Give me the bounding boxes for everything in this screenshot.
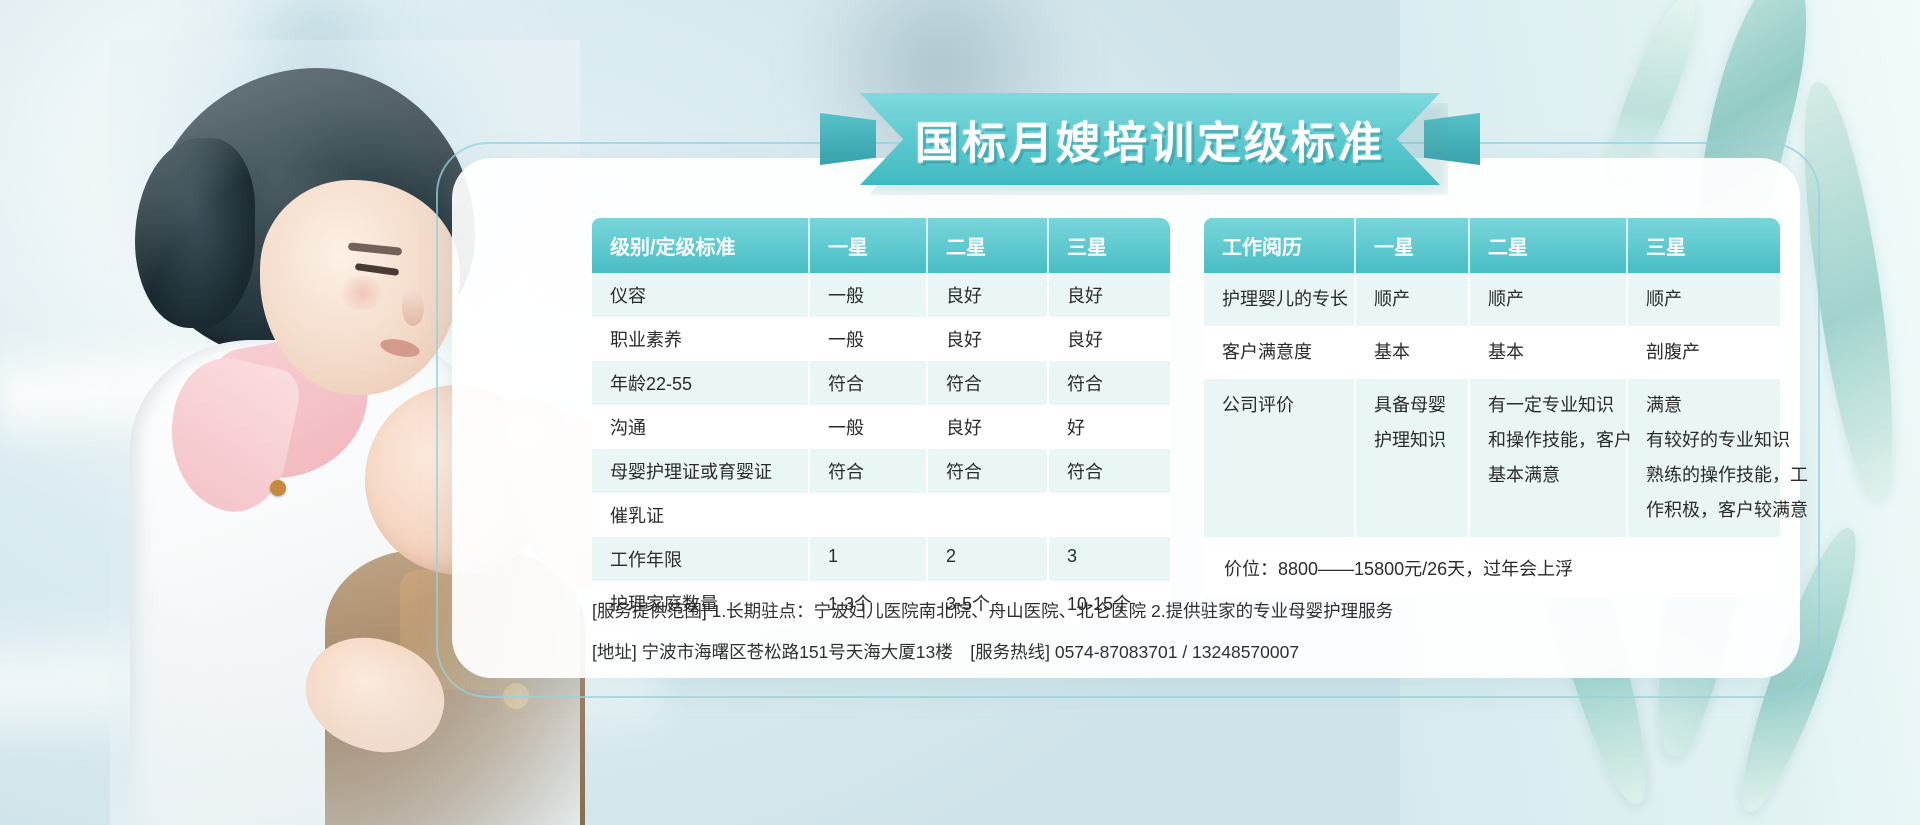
cell-line: 熟练的操作技能，工 bbox=[1646, 458, 1780, 493]
cell-star2: 2 bbox=[928, 537, 1049, 581]
cell-line: 基本 bbox=[1374, 335, 1468, 370]
cell-line: 护理知识 bbox=[1374, 423, 1468, 458]
cell-star3: 剖腹产 bbox=[1628, 326, 1780, 379]
poster-canvas: 国标月嫂培训定级标准 级别/定级标准 一星 二星 三星 仪容 一般 良好 良好 bbox=[0, 0, 1920, 825]
cell-star3: 好 bbox=[1049, 405, 1170, 449]
grading-standard-table: 级别/定级标准 一星 二星 三星 仪容 一般 良好 良好 职业素养 一般 良好 bbox=[592, 218, 1170, 625]
work-experience-table: 工作阅历 一星 二星 三星 护理婴儿的专长 顺产 顺产 bbox=[1204, 218, 1780, 537]
footer-info: [服务提供范围] 1.长期驻点：宁波妇儿医院南北院、舟山医院、北仑医院 2.提供… bbox=[592, 598, 1792, 680]
cell-star2: 良好 bbox=[928, 317, 1049, 361]
cell-criteria: 催乳证 bbox=[592, 493, 810, 537]
cell-line: 基本 bbox=[1488, 335, 1626, 370]
table-row: 职业素养 一般 良好 良好 bbox=[592, 317, 1170, 361]
cell-star1: 具备母婴 护理知识 bbox=[1356, 379, 1470, 537]
price-note: 价位：8800——15800元/26天，过年会上浮 bbox=[1204, 537, 1780, 597]
cell-experience: 公司评价 bbox=[1204, 379, 1356, 537]
header-star-2: 二星 bbox=[1470, 218, 1628, 273]
table-row: 年龄22-55 符合 符合 符合 bbox=[592, 361, 1170, 405]
cell-line: 作积极，客户较满意 bbox=[1646, 493, 1780, 528]
experience-section: 工作阅历 一星 二星 三星 护理婴儿的专长 顺产 顺产 bbox=[1204, 218, 1780, 625]
cell-star1 bbox=[810, 493, 928, 537]
banner-title-text: 国标月嫂培训定级标准 bbox=[915, 107, 1385, 171]
cell-star2: 符合 bbox=[928, 361, 1049, 405]
cell-criteria: 沟通 bbox=[592, 405, 810, 449]
table-header-row: 级别/定级标准 一星 二星 三星 bbox=[592, 218, 1170, 273]
cell-criteria: 年龄22-55 bbox=[592, 361, 810, 405]
cell-star3: 3 bbox=[1049, 537, 1170, 581]
cell-line: 满意 bbox=[1646, 388, 1780, 423]
cell-star3: 良好 bbox=[1049, 273, 1170, 317]
cell-star1: 一般 bbox=[810, 273, 928, 317]
cell-star3: 符合 bbox=[1049, 361, 1170, 405]
table-row: 护理婴儿的专长 顺产 顺产 顺产 bbox=[1204, 273, 1780, 326]
cell-star1: 1 bbox=[810, 537, 928, 581]
header-star-2: 二星 bbox=[928, 218, 1049, 273]
cell-star2: 顺产 bbox=[1470, 273, 1628, 326]
title-banner: 国标月嫂培训定级标准 bbox=[860, 93, 1440, 185]
table-row: 沟通 一般 良好 好 bbox=[592, 405, 1170, 449]
cell-star2: 良好 bbox=[928, 273, 1049, 317]
cell-criteria: 职业素养 bbox=[592, 317, 810, 361]
cell-star1: 符合 bbox=[810, 449, 928, 493]
cell-experience: 护理婴儿的专长 bbox=[1204, 273, 1356, 326]
cell-line: 基本满意 bbox=[1488, 458, 1626, 493]
cell-star1: 一般 bbox=[810, 405, 928, 449]
table-row: 仪容 一般 良好 良好 bbox=[592, 273, 1170, 317]
table-header-row: 工作阅历 一星 二星 三星 bbox=[1204, 218, 1780, 273]
banner-body: 国标月嫂培训定级标准 bbox=[860, 93, 1440, 185]
table-row: 公司评价 具备母婴 护理知识 有一定专业知识 和操作技能，客户 基本满意 满意 bbox=[1204, 379, 1780, 537]
cell-star1: 基本 bbox=[1356, 326, 1470, 379]
table-row: 母婴护理证或育婴证 符合 符合 符合 bbox=[592, 449, 1170, 493]
cell-criteria: 工作年限 bbox=[592, 537, 810, 581]
table-row: 客户满意度 基本 基本 剖腹产 bbox=[1204, 326, 1780, 379]
cell-star2 bbox=[928, 493, 1049, 537]
header-star-1: 一星 bbox=[1356, 218, 1470, 273]
cell-line: 顺产 bbox=[1646, 282, 1780, 317]
cell-line: 有一定专业知识 bbox=[1488, 388, 1626, 423]
cell-star2: 良好 bbox=[928, 405, 1049, 449]
cell-line: 和操作技能，客户 bbox=[1488, 423, 1626, 458]
cell-star3: 顺产 bbox=[1628, 273, 1780, 326]
table-row: 工作年限 1 2 3 bbox=[592, 537, 1170, 581]
table-row: 催乳证 bbox=[592, 493, 1170, 537]
header-star-3: 三星 bbox=[1049, 218, 1170, 273]
footer-service-scope: [服务提供范围] 1.长期驻点：宁波妇儿医院南北院、舟山医院、北仑医院 2.提供… bbox=[592, 598, 1792, 623]
cell-star2: 符合 bbox=[928, 449, 1049, 493]
cell-line: 具备母婴 bbox=[1374, 388, 1468, 423]
cell-star3: 符合 bbox=[1049, 449, 1170, 493]
cell-line: 顺产 bbox=[1374, 282, 1468, 317]
cell-criteria: 母婴护理证或育婴证 bbox=[592, 449, 810, 493]
header-experience: 工作阅历 bbox=[1204, 218, 1356, 273]
header-criteria: 级别/定级标准 bbox=[592, 218, 810, 273]
cell-line: 剖腹产 bbox=[1646, 335, 1780, 370]
cell-line: 顺产 bbox=[1488, 282, 1626, 317]
cell-star1: 顺产 bbox=[1356, 273, 1470, 326]
header-star-1: 一星 bbox=[810, 218, 928, 273]
cell-star3: 良好 bbox=[1049, 317, 1170, 361]
cell-star2: 有一定专业知识 和操作技能，客户 基本满意 bbox=[1470, 379, 1628, 537]
footer-address-hotline: [地址] 宁波市海曙区苍松路151号天海大厦13楼 [服务热线] 0574-87… bbox=[592, 639, 1792, 664]
cell-star1: 一般 bbox=[810, 317, 928, 361]
cell-criteria: 仪容 bbox=[592, 273, 810, 317]
cell-star3 bbox=[1049, 493, 1170, 537]
banner-tail-left bbox=[820, 113, 876, 165]
cell-line: 有较好的专业知识 bbox=[1646, 423, 1780, 458]
header-star-3: 三星 bbox=[1628, 218, 1780, 273]
cell-star1: 符合 bbox=[810, 361, 928, 405]
tables-container: 级别/定级标准 一星 二星 三星 仪容 一般 良好 良好 职业素养 一般 良好 bbox=[592, 218, 1780, 625]
cell-star3: 满意 有较好的专业知识 熟练的操作技能，工 作积极，客户较满意 bbox=[1628, 379, 1780, 537]
cell-star2: 基本 bbox=[1470, 326, 1628, 379]
cell-experience: 客户满意度 bbox=[1204, 326, 1356, 379]
